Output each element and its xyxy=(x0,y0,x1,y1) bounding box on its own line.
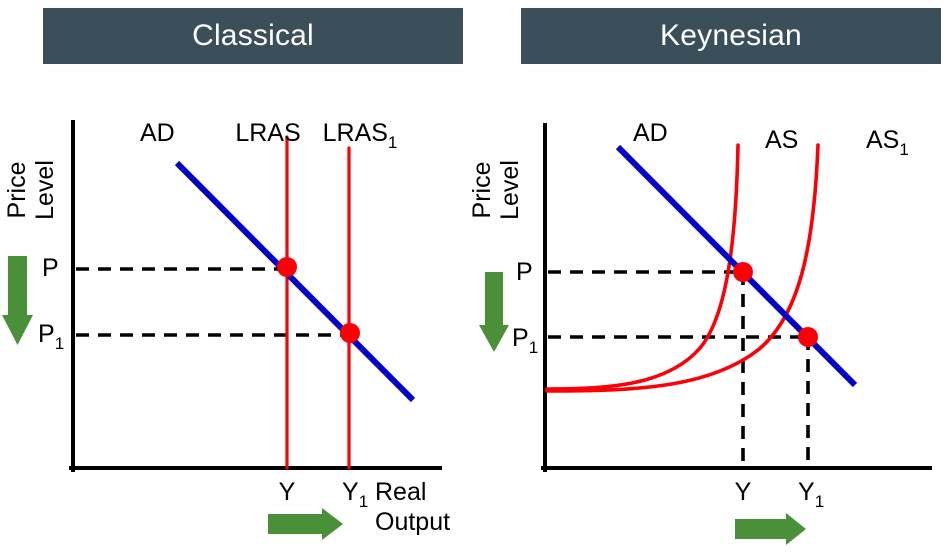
classical-lras-label: LRAS xyxy=(235,119,300,147)
classical-y-tick-P1: P1 xyxy=(38,320,64,353)
keynesian-y-axis-title-line2: Level xyxy=(496,160,524,220)
classical-chart: Price Level AD LRAS LRAS1 P xyxy=(2,119,450,540)
classical-x-axis-title-line2: Output xyxy=(375,508,450,536)
classical-price-down-arrow xyxy=(2,256,33,345)
keynesian-chart: Price Level AD AS xyxy=(468,119,930,545)
classical-equilibrium-dot-initial xyxy=(277,257,297,277)
keynesian-price-down-arrow xyxy=(479,272,509,352)
keynesian-y-axis-title-line1: Price xyxy=(468,162,496,219)
keynesian-y-tick-P: P xyxy=(516,258,533,286)
classical-y-tick-P: P xyxy=(42,254,59,282)
classical-x-tick-Y1: Y1 xyxy=(342,478,368,511)
keynesian-output-right-arrow xyxy=(735,513,806,545)
keynesian-y-tick-P1: P1 xyxy=(512,324,538,357)
classical-y-axis-title-line1: Price xyxy=(3,162,31,219)
keynesian-as1-label: AS1 xyxy=(866,126,909,159)
keynesian-equilibrium-dot-initial xyxy=(733,262,753,282)
charts-svg: Price Level AD LRAS LRAS1 P xyxy=(0,0,952,552)
keynesian-as-curve xyxy=(547,145,738,389)
diagram-page: Classical Keynesian Price Level xyxy=(0,0,952,552)
classical-x-axis-title-line1: Real xyxy=(375,478,426,506)
keynesian-ad-label: AD xyxy=(633,119,668,147)
classical-ad-label: AD xyxy=(140,119,175,147)
keynesian-as1-curve xyxy=(547,145,818,391)
keynesian-x-tick-Y1: Y1 xyxy=(798,478,824,511)
classical-lras1-label: LRAS1 xyxy=(323,119,398,152)
keynesian-as-label: AS xyxy=(765,126,798,154)
classical-y-axis-title-line2: Level xyxy=(31,160,59,220)
classical-x-tick-Y: Y xyxy=(279,478,296,506)
keynesian-x-tick-Y: Y xyxy=(735,478,752,506)
classical-ad-line xyxy=(177,163,413,400)
classical-output-right-arrow xyxy=(268,508,343,540)
keynesian-equilibrium-dot-new xyxy=(798,327,818,347)
classical-equilibrium-dot-new xyxy=(340,323,360,343)
